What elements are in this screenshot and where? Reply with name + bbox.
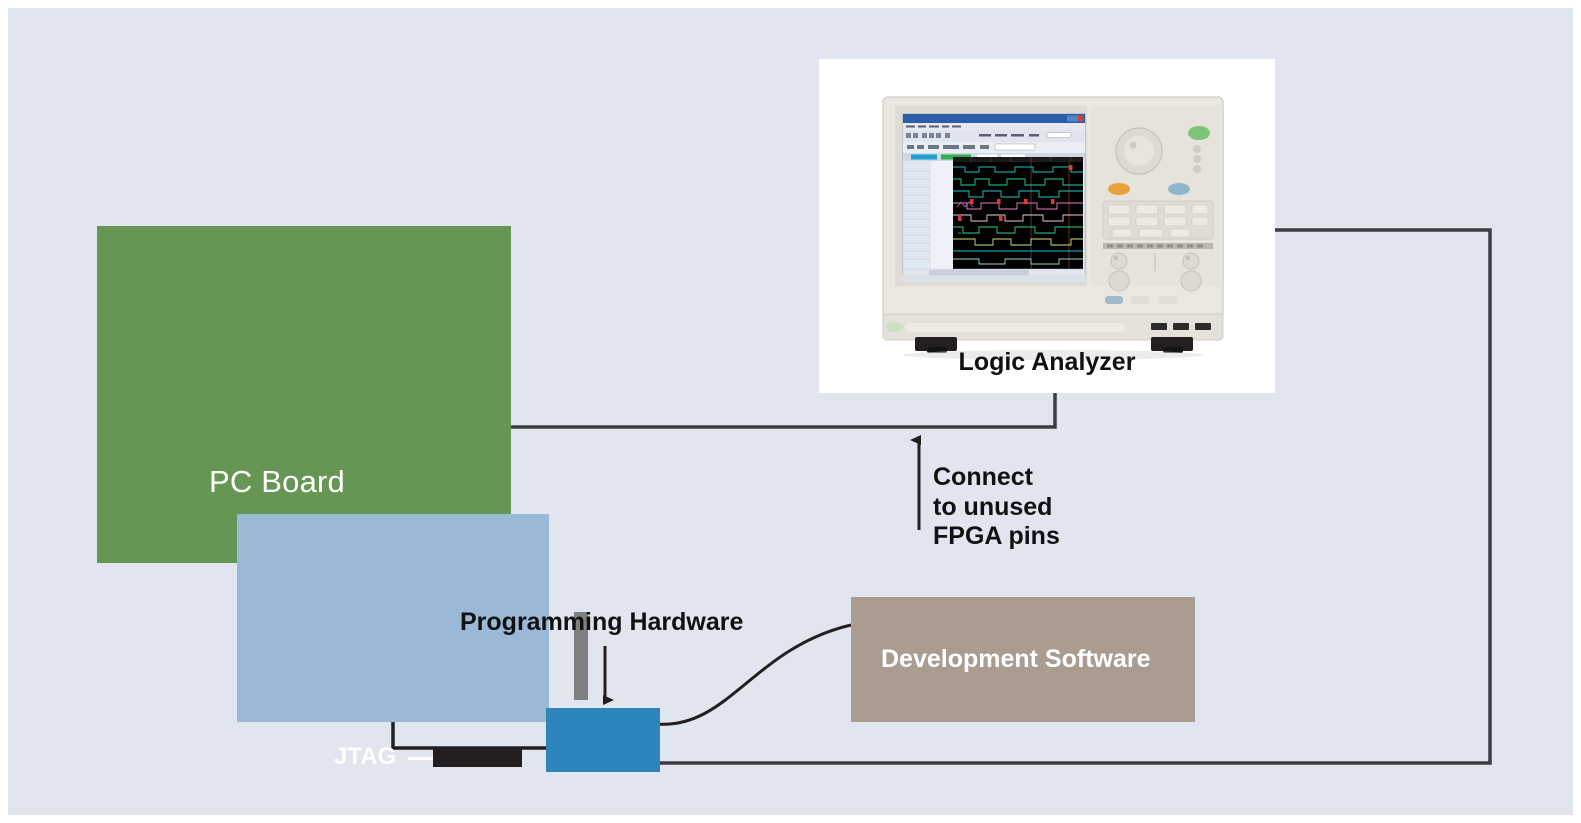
development-software-block: Development Software [851, 597, 1195, 722]
instrument-controls [1091, 106, 1219, 304]
programming-hardware-label: Programming Hardware [460, 608, 743, 637]
wire-programming-hardware-to-development-software [656, 625, 851, 724]
jtag-leader-line [408, 757, 436, 760]
connect-to-unused-fpga-pins-note: Connect to unused FPGA pins [933, 463, 1060, 552]
logic-analyzer-caption: Logic Analyzer [819, 348, 1275, 377]
development-software-label: Development Software [851, 597, 1195, 722]
programming-hardware-block [546, 708, 660, 772]
analyzer-screen [903, 114, 1085, 282]
logic-analyzer-photo: Tektronix TLA7000 Logic Analyzer Program… [819, 59, 1275, 393]
pc-board-label: PC Board [209, 464, 345, 500]
pc-board-block: PC Board FPGA LAI [97, 226, 511, 563]
jtag-label: JTAG [334, 743, 396, 771]
diagram-canvas: PC Board FPGA LAI [8, 8, 1573, 815]
jtag-connector [433, 747, 522, 767]
logic-analyzer-panel: Tektronix TLA7000 Logic Analyzer Program… [819, 59, 1275, 393]
